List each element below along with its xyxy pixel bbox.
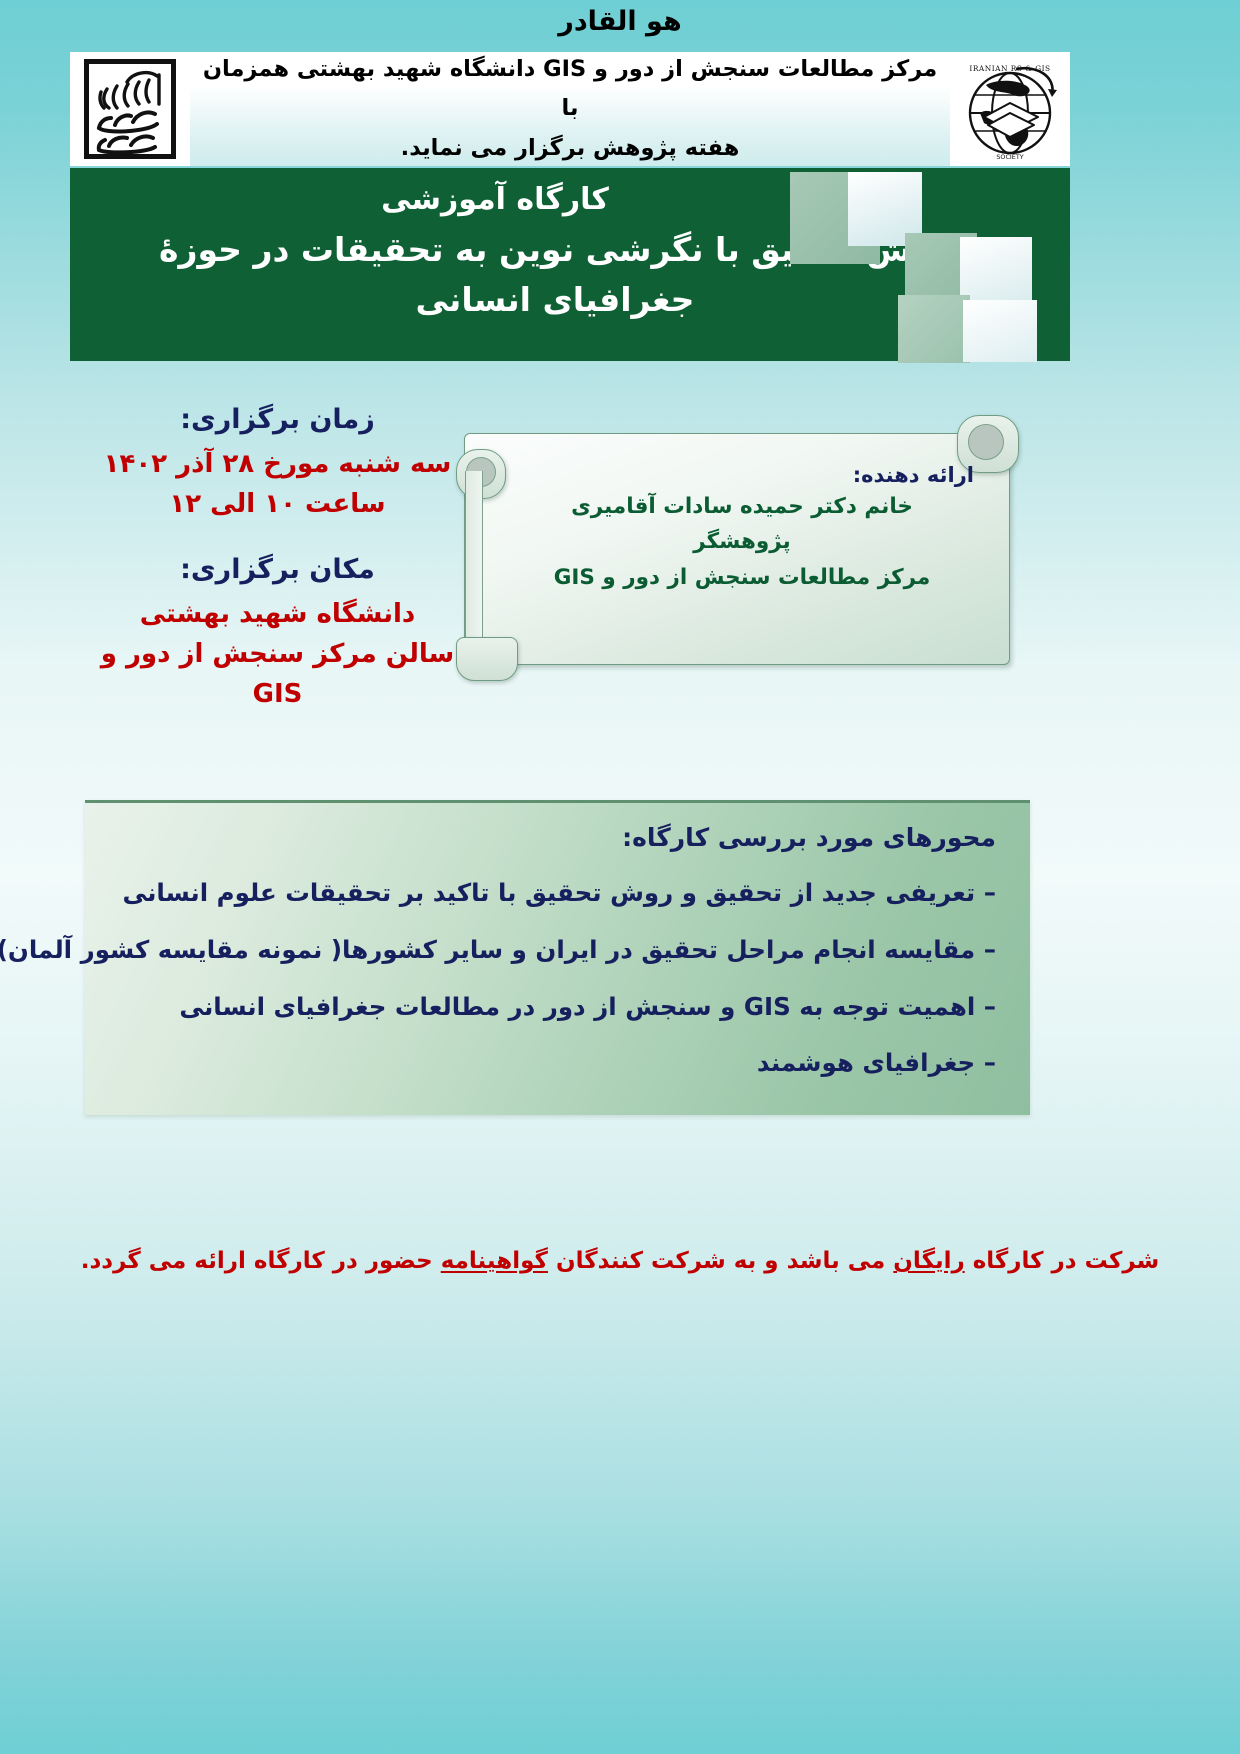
topics-title: محورهای مورد بررسی کارگاه: [119,823,996,852]
scroll-spine [465,471,483,649]
header-line-1: مرکز مطالعات سنجش از دور و GIS دانشگاه ش… [200,50,940,129]
event-place-label: مکان برگزاری: [85,550,470,591]
presenter-text-block: ارائه دهنده: خانم دکتر حمیده سادات آقامی… [492,463,992,595]
event-place-line-2: سالن مرکز سنجش از دور و GIS [85,634,470,715]
footer-note: شرکت در کارگاه رایگان می باشد و به شرکت … [0,1248,1240,1274]
topics-box: محورهای مورد بررسی کارگاه: – تعریفی جدید… [85,800,1030,1115]
shahid-beheshti-university-logo-icon [84,59,176,159]
footer-part-1: شرکت در کارگاه [965,1248,1160,1274]
scroll-curl-bottom-left [456,637,518,681]
footer-part-2: می باشد و به شرکت کنندگان [548,1248,893,1274]
banner-title-line-2: جغرافیای انسانی [104,275,1036,325]
rs-gis-society-globe-logo-icon: IRANIAN RS & GIS SOCIETY [956,55,1064,163]
svg-text:IRANIAN RS & GIS: IRANIAN RS & GIS [969,64,1050,73]
event-date: سه شنبه مورخ ۲۸ آذر ۱۴۰۲ [85,444,470,484]
header-band: مرکز مطالعات سنجش از دور و GIS دانشگاه ش… [70,52,1070,166]
info-spacer [85,524,470,550]
footer-part-3: حضور در کارگاه ارائه می گردد. [81,1248,441,1274]
footer-certificate-word: گواهینامه [441,1248,548,1274]
topic-item-2: – مقایسه انجام مراحل تحقیق در ایران و سا… [119,933,996,968]
presenter-scroll: ارائه دهنده: خانم دکتر حمیده سادات آقامی… [452,415,1022,680]
event-hours: ساعت ۱۰ الی ۱۲ [85,484,470,524]
event-time-label: زمان برگزاری: [85,400,470,441]
svg-text:SOCIETY: SOCIETY [996,153,1023,161]
topic-item-3: – اهمیت توجه به GIS و سنجش از دور در مطا… [119,990,996,1025]
header-text: مرکز مطالعات سنجش از دور و GIS دانشگاه ش… [190,52,950,166]
topic-item-1: – تعریفی جدید از تحقیق و روش تحقیق با تا… [119,876,996,911]
society-logo-box: IRANIAN RS & GIS SOCIETY [950,52,1070,166]
topic-item-4: – جغرافیای هوشمند [119,1046,996,1081]
university-logo-box [70,52,190,166]
decorative-square-6 [963,300,1037,362]
presenter-affiliation: مرکز مطالعات سنجش از دور و GIS [492,560,992,595]
footer-free-word: رایگان [893,1248,964,1274]
decorative-square-5 [898,295,970,363]
presenter-role: پژوهشگر [492,524,992,559]
header-line-2: هفته پژوهش برگزار می نماید. [401,129,740,168]
presenter-name: خانم دکتر حمیده سادات آقامیری [492,489,992,524]
event-info-column: زمان برگزاری: سه شنبه مورخ ۲۸ آذر ۱۴۰۲ س… [85,400,470,714]
presenter-label: ارائه دهنده: [492,463,992,487]
event-place-line-1: دانشگاه شهید بهشتی [85,594,470,634]
bismillah-text: هو القادر [0,6,1240,37]
